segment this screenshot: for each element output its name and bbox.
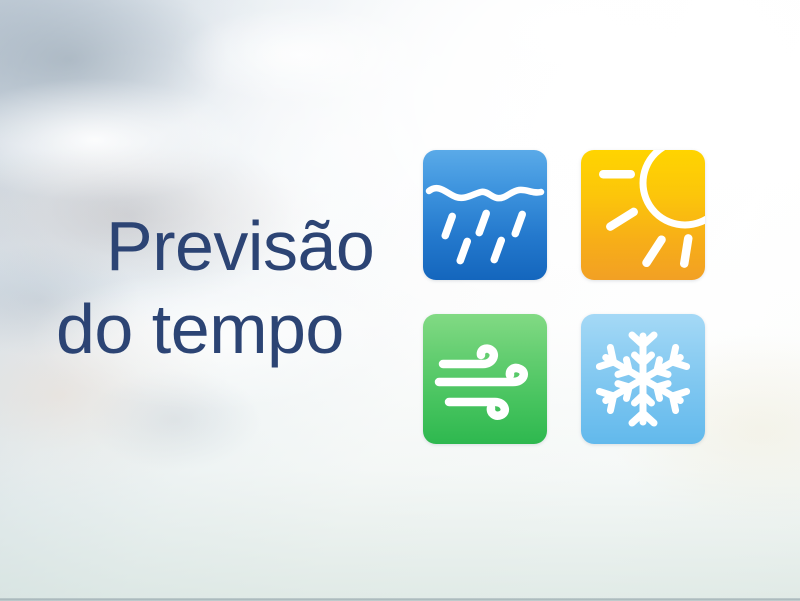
page-title-line-2: do tempo bbox=[56, 288, 408, 371]
page-title: Previsão do tempo bbox=[56, 205, 408, 371]
weather-icon-grid bbox=[423, 150, 705, 445]
rain-icon bbox=[423, 150, 547, 280]
wind-icon bbox=[423, 314, 547, 444]
page-title-line-1: Previsão bbox=[56, 205, 408, 288]
weather-forecast-graphic: Previsão do tempo bbox=[0, 0, 800, 601]
snowflake-icon bbox=[581, 314, 705, 444]
sun-icon bbox=[581, 150, 705, 280]
